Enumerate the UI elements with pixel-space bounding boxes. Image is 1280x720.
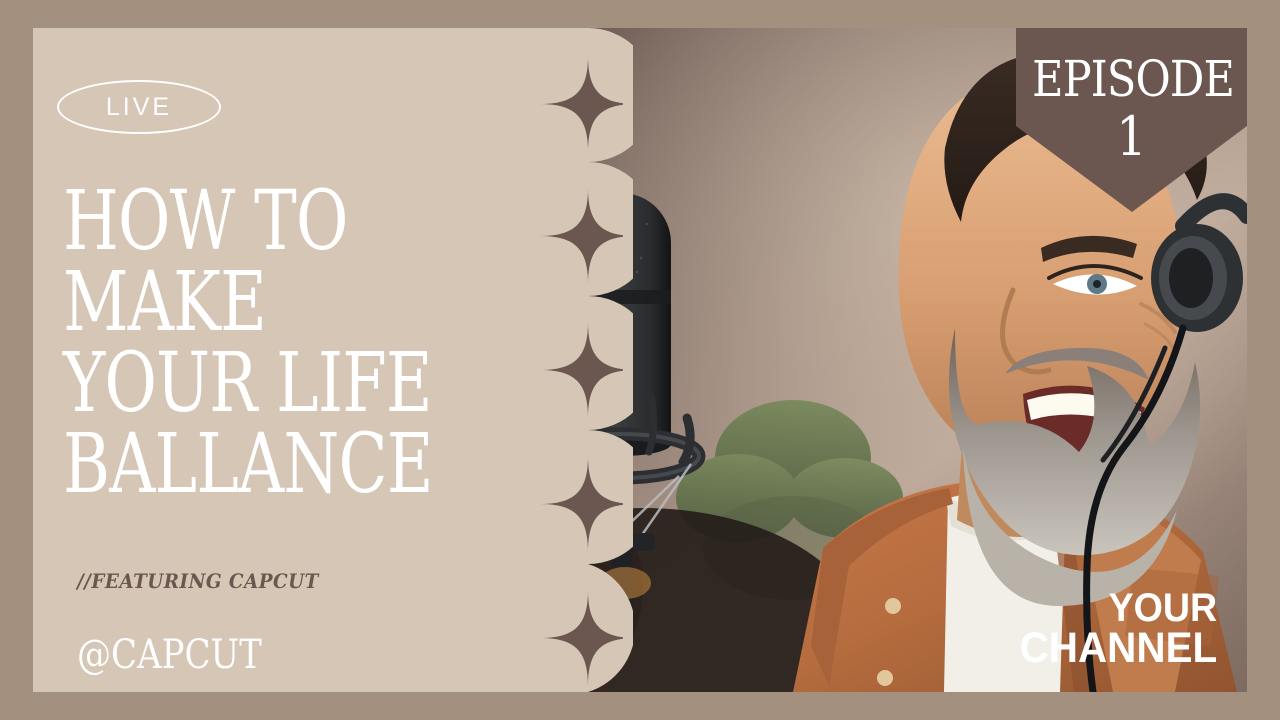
featuring-credit: //FEATURING CAPCUT (77, 569, 319, 593)
thumbnail-canvas: LIVE HOW TO MAKE YOUR LIFE BALLANCE //FE… (33, 28, 1247, 692)
live-badge-label: LIVE (106, 95, 172, 120)
social-handle: @CAPCUT (77, 632, 262, 678)
thumbnail-root: LIVE HOW TO MAKE YOUR LIFE BALLANCE //FE… (0, 0, 1280, 720)
title-line-2: MAKE (63, 264, 430, 342)
page-title: HOW TO MAKE YOUR LIFE BALLANCE (63, 183, 533, 507)
title-line-1: HOW TO (63, 183, 430, 261)
channel-lockup: YOUR CHANNEL (1007, 590, 1217, 668)
title-line-4: BALLANCE (63, 426, 430, 504)
episode-badge: EPISODE 1 (1016, 28, 1247, 212)
title-line-3: YOUR LIFE (63, 345, 430, 423)
live-badge[interactable]: LIVE (57, 80, 221, 134)
channel-line-2: CHANNEL (1019, 628, 1217, 668)
channel-line-1: YOUR (1019, 590, 1217, 628)
